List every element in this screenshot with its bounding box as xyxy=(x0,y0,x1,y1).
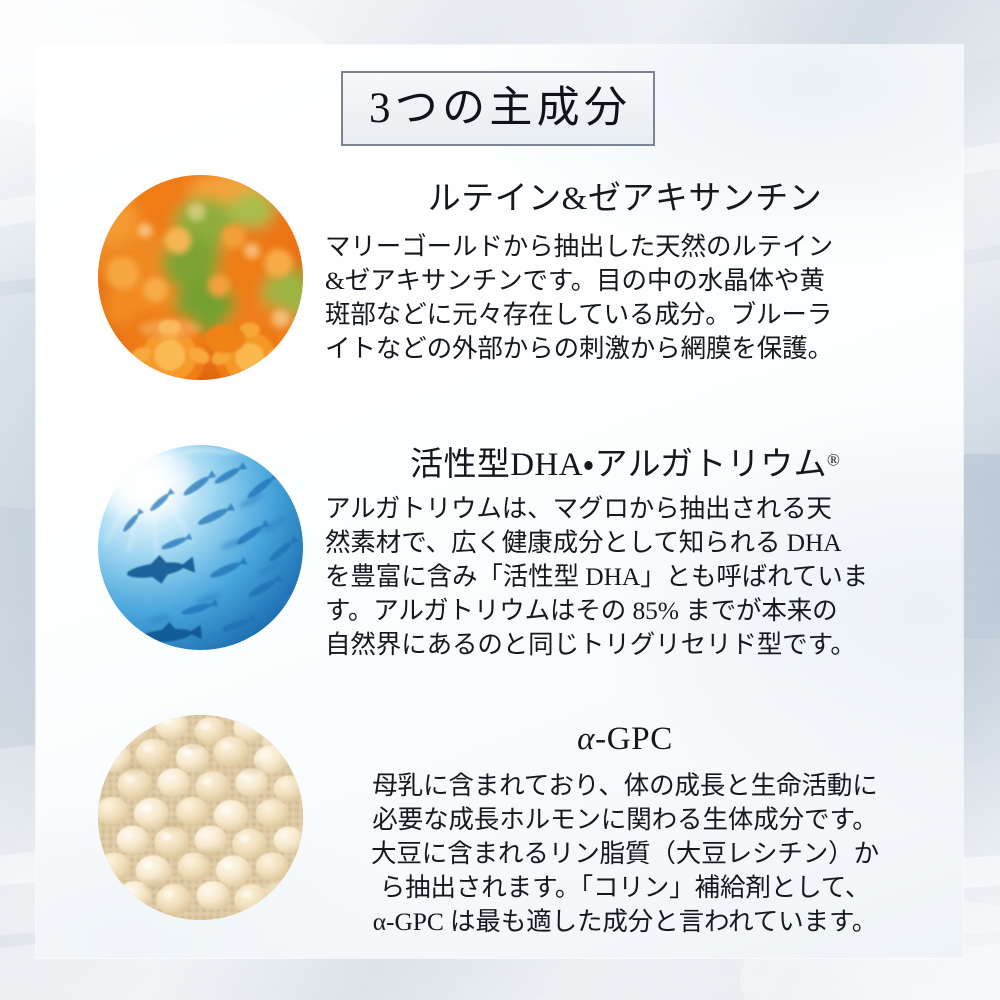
alpha-gpc-heading-rest: -GPC xyxy=(595,721,673,757)
page-title: 3つの主成分 xyxy=(365,87,632,130)
alpha-gpc-paragraph: 母乳に含まれており、体の成長と生命活動に 必要な成長ホルモンに関わる生体成分です… xyxy=(325,769,925,939)
dha-heading-main: 活性型DHA・アルガトリウム xyxy=(410,447,827,483)
text-line: 大豆に含まれるリン脂質（大豆レシチン）か xyxy=(325,837,925,871)
text-line: マリーゴールドから抽出した天然のルテイン xyxy=(325,230,925,264)
school-of-fish-underwater-photo xyxy=(98,445,303,650)
dha-heading: 活性型DHA・アルガトリウム® xyxy=(325,430,925,482)
registered-trademark-icon: ® xyxy=(827,451,840,470)
soybeans-photo xyxy=(98,715,303,920)
text-line: アルガトリウムは、マグロから抽出される天 xyxy=(325,492,925,526)
text-line: &ゼアキサンチンです。目の中の水晶体や黄 xyxy=(325,264,925,298)
text-line: を豊富に含み「活性型 DHA」とも呼ばれていま xyxy=(325,560,925,594)
alpha-gpc-heading: α-GPC xyxy=(325,700,925,756)
text-line: 母乳に含まれており、体の成長と生命活動に xyxy=(325,769,925,803)
alpha-symbol: α xyxy=(577,721,595,757)
text-line: 然素材で、広く健康成分として知られる DHA xyxy=(325,526,925,560)
fish-image-svg xyxy=(98,445,303,650)
marigold-image-svg xyxy=(98,175,303,380)
marigold-flowers-photo xyxy=(98,175,303,380)
page-title-box: 3つの主成分 xyxy=(341,71,655,146)
text-line: 斑部などに元々存在している成分。ブルーラ xyxy=(325,298,925,332)
text-line: 必要な成長ホルモンに関わる生体成分です。 xyxy=(325,803,925,837)
text-line: 自然界にあるのと同じトリグリセリド型です。 xyxy=(325,628,925,662)
alpha-gpc-text-column: α-GPC 母乳に含まれており、体の成長と生命活動に 必要な成長ホルモンに関わる… xyxy=(325,700,925,939)
text-line: α-GPC は最も適した成分と言われています。 xyxy=(325,905,925,939)
lutein-heading: ルテイン&ゼアキサンチン xyxy=(325,160,925,216)
text-line: イトなどの外部からの刺激から網膜を保護。 xyxy=(325,332,925,366)
dha-paragraph: アルガトリウムは、マグロから抽出される天 然素材で、広く健康成分として知られる … xyxy=(325,492,925,662)
content-card: 3つの主成分 xyxy=(36,45,963,958)
dha-text-column: 活性型DHA・アルガトリウム® アルガトリウムは、マグロから抽出される天 然素材… xyxy=(325,430,925,662)
text-line: ら抽出されます。「コリン」補給剤として、 xyxy=(325,871,925,905)
page-stage: 3つの主成分 xyxy=(0,0,1000,1000)
soybeans-image-svg xyxy=(98,715,303,920)
text-line: す。アルガトリウムはその 85% までが本来の xyxy=(325,594,925,628)
lutein-text-column: ルテイン&ゼアキサンチン マリーゴールドから抽出した天然のルテイン &ゼアキサン… xyxy=(325,160,925,366)
lutein-paragraph: マリーゴールドから抽出した天然のルテイン &ゼアキサンチンです。目の中の水晶体や… xyxy=(325,230,925,366)
